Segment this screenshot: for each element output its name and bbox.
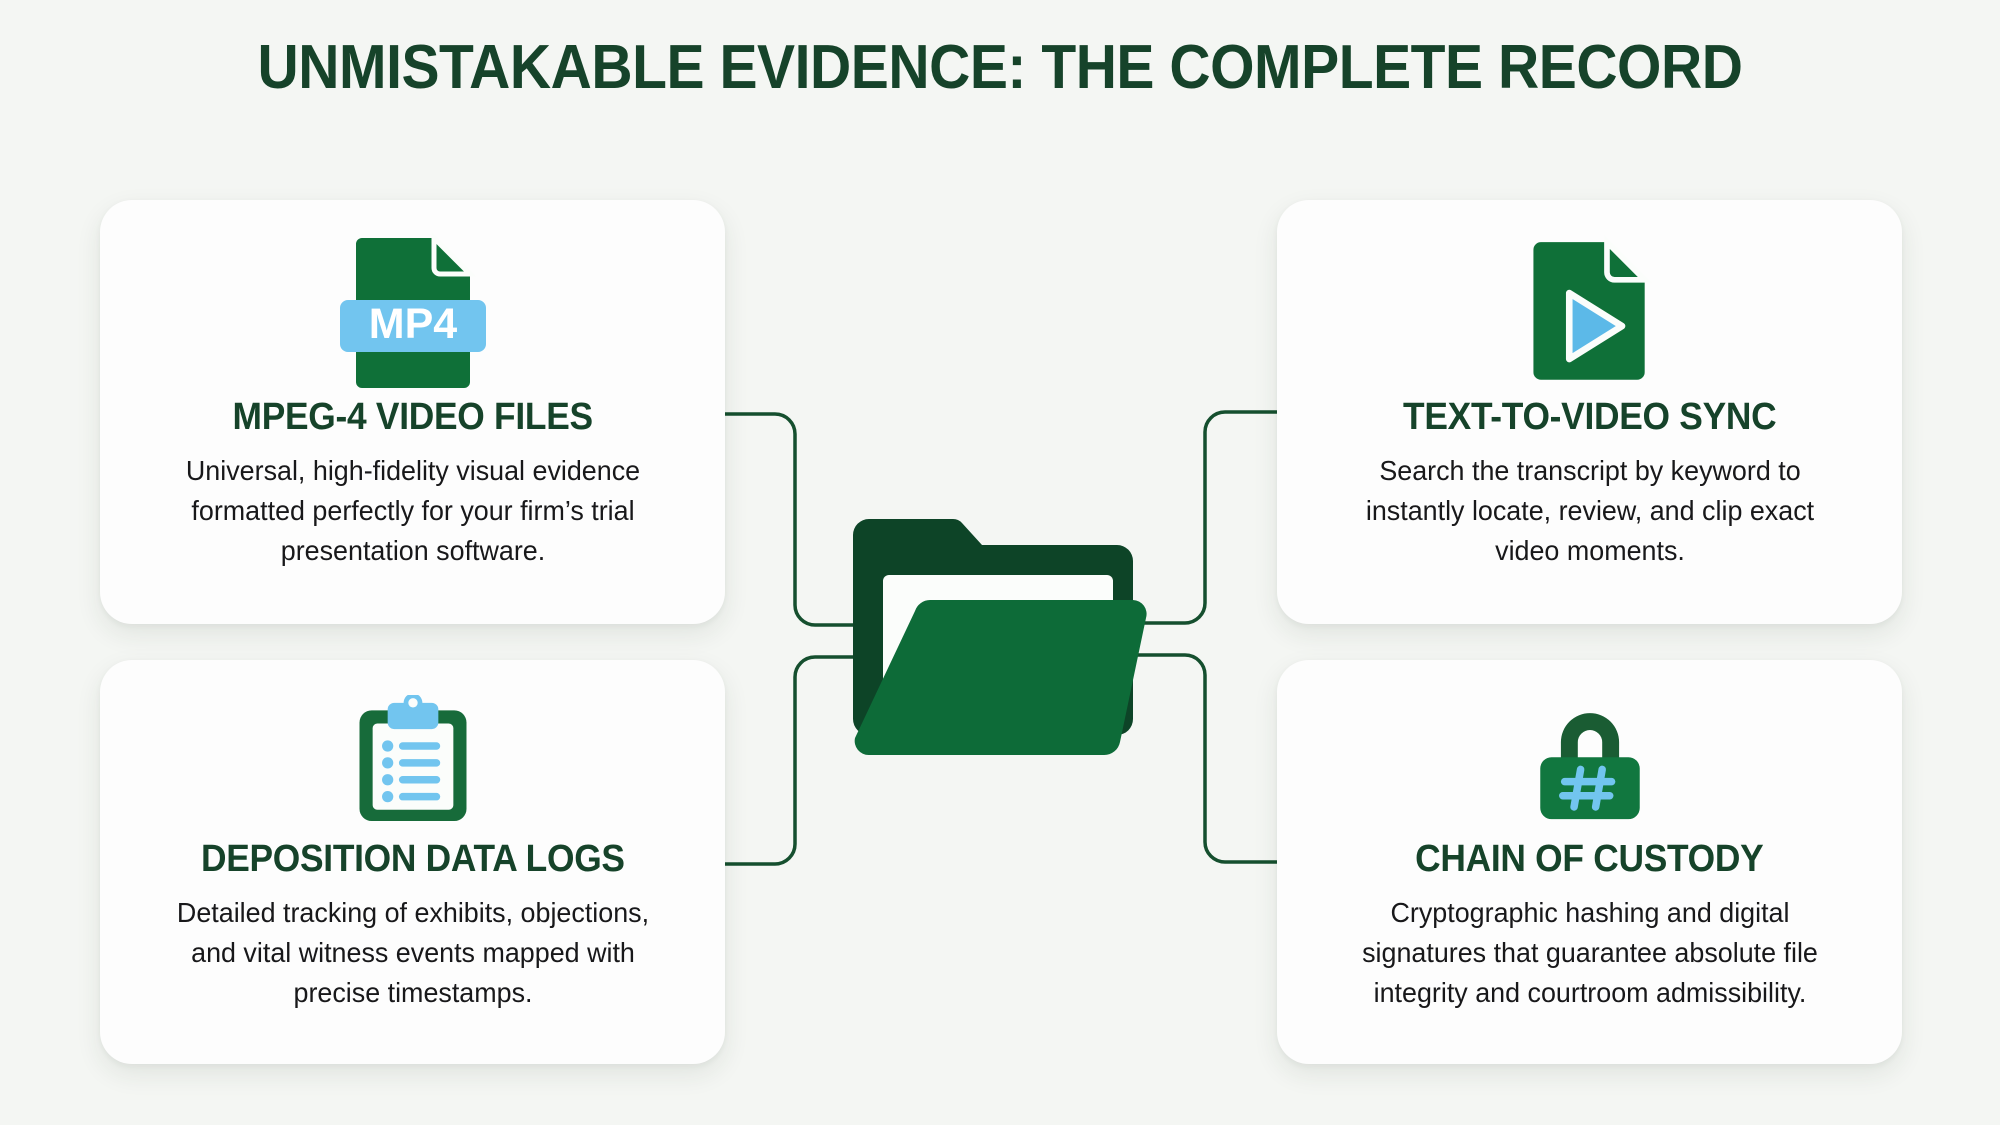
card-description: Detailed tracking of exhibits, objection… <box>153 893 671 1013</box>
mp4-file-icon: MP4 <box>338 226 488 394</box>
video-play-file-icon <box>1524 226 1656 394</box>
mp4-icon-label: MP4 <box>368 300 457 348</box>
card-description: Search the transcript by keyword to inst… <box>1330 451 1848 571</box>
card-mpeg4-video-files[interactable]: MP4 MPEG-4 VIDEO FILES Universal, high-f… <box>100 200 725 624</box>
card-title: MPEG-4 VIDEO FILES <box>232 396 592 439</box>
open-folder-icon <box>845 505 1155 775</box>
card-title: DEPOSITION DATA LOGS <box>201 838 625 881</box>
card-chain-of-custody[interactable]: CHAIN OF CUSTODY Cryptographic hashing a… <box>1277 660 1902 1064</box>
card-text-to-video-sync[interactable]: TEXT-TO-VIDEO SYNC Search the transcript… <box>1277 200 1902 624</box>
padlock-hash-icon <box>1529 686 1651 836</box>
card-title: TEXT-TO-VIDEO SYNC <box>1403 396 1776 439</box>
clipboard-checklist-icon <box>352 686 474 836</box>
infographic-canvas: UNMISTAKABLE EVIDENCE: THE COMPLETE RECO… <box>0 0 2000 1125</box>
card-description: Universal, high-fidelity visual evidence… <box>153 451 671 571</box>
card-title: CHAIN OF CUSTODY <box>1415 838 1763 881</box>
card-deposition-data-logs[interactable]: DEPOSITION DATA LOGS Detailed tracking o… <box>100 660 725 1064</box>
card-description: Cryptographic hashing and digital signat… <box>1330 893 1848 1013</box>
